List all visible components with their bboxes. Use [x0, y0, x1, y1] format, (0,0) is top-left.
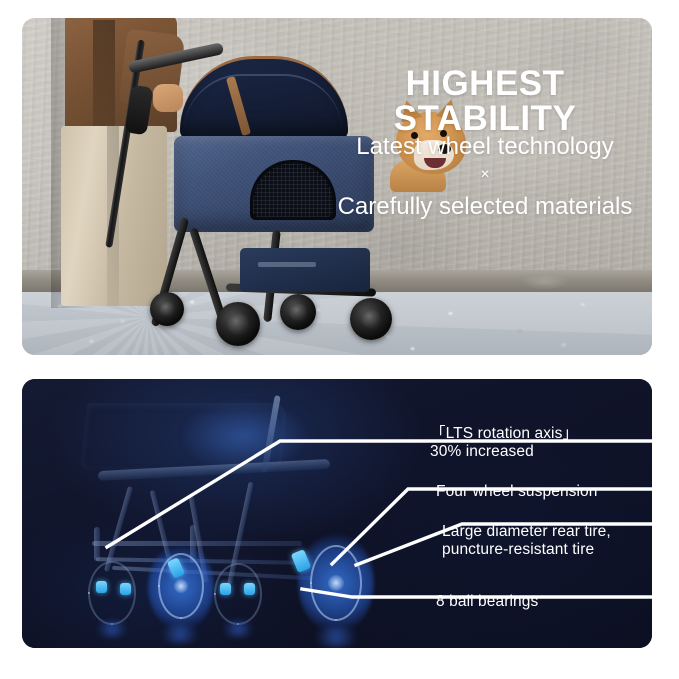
callout-label-lts-rotation-axis: 「LTS rotation axis」 30% increased: [430, 425, 578, 462]
stroller-wheel-front-left: [150, 292, 184, 326]
headline-separator: ×: [300, 166, 652, 184]
headline-subtitle-2: Carefully selected materials: [300, 193, 652, 221]
callout-label-ball-bearings: 8 ball bearings: [436, 593, 538, 611]
stroller-wheel-front-right: [216, 302, 260, 346]
bottom-diagram-panel: [22, 379, 652, 648]
callout-label-large-diameter-rear-tire: Large diameter rear tire, puncture-resis…: [442, 523, 611, 560]
callout-leader-lines: [22, 379, 652, 648]
stroller-wheel-rear-right: [350, 298, 392, 340]
stroller-wheel-rear-left: [280, 294, 316, 330]
callout-label-four-wheel-suspension: Four wheel suspension: [436, 483, 598, 501]
top-photo-panel: HIGHEST STABILITY Latest wheel technolog…: [22, 18, 652, 355]
headline-title: HIGHEST STABILITY: [310, 66, 652, 136]
product-feature-infographic: HIGHEST STABILITY Latest wheel technolog…: [0, 0, 679, 679]
headline-subtitle-1: Latest wheel technology: [300, 133, 652, 161]
stroller-storage-basket: [240, 248, 370, 292]
